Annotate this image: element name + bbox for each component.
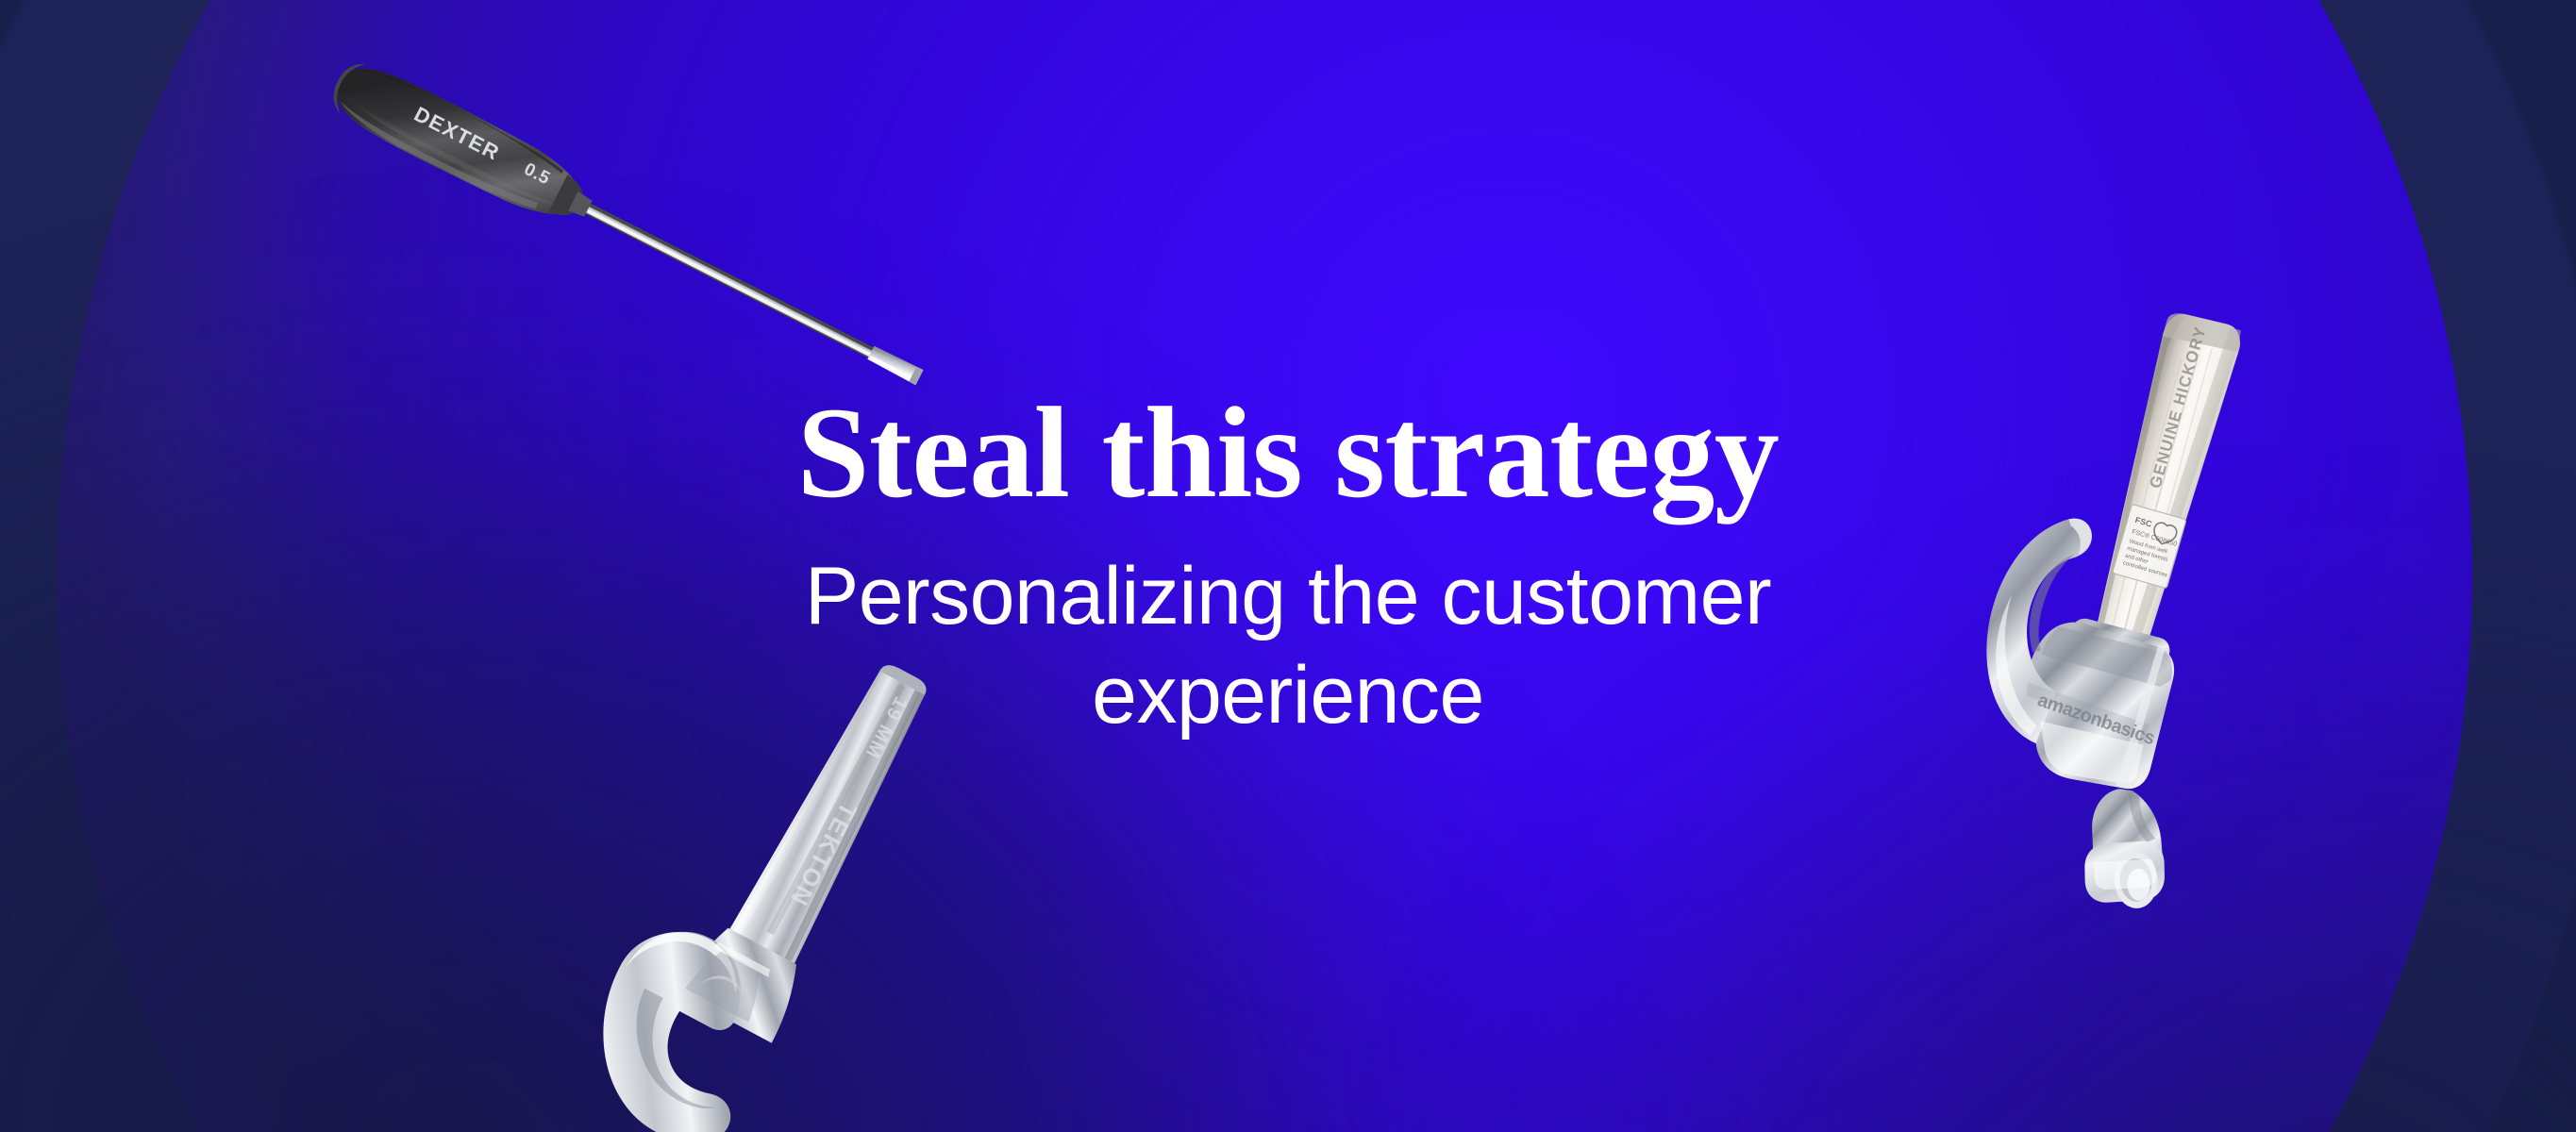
wrench-image: TEKTON TEKTON 19 MM [481,703,1066,1132]
hammer-image: FSC FSC® C008650 Wood from well- managed… [1783,274,2368,934]
banner-canvas: DEXTER 0.5 [0,0,2576,1132]
screwdriver-image: DEXTER 0.5 [283,0,981,491]
